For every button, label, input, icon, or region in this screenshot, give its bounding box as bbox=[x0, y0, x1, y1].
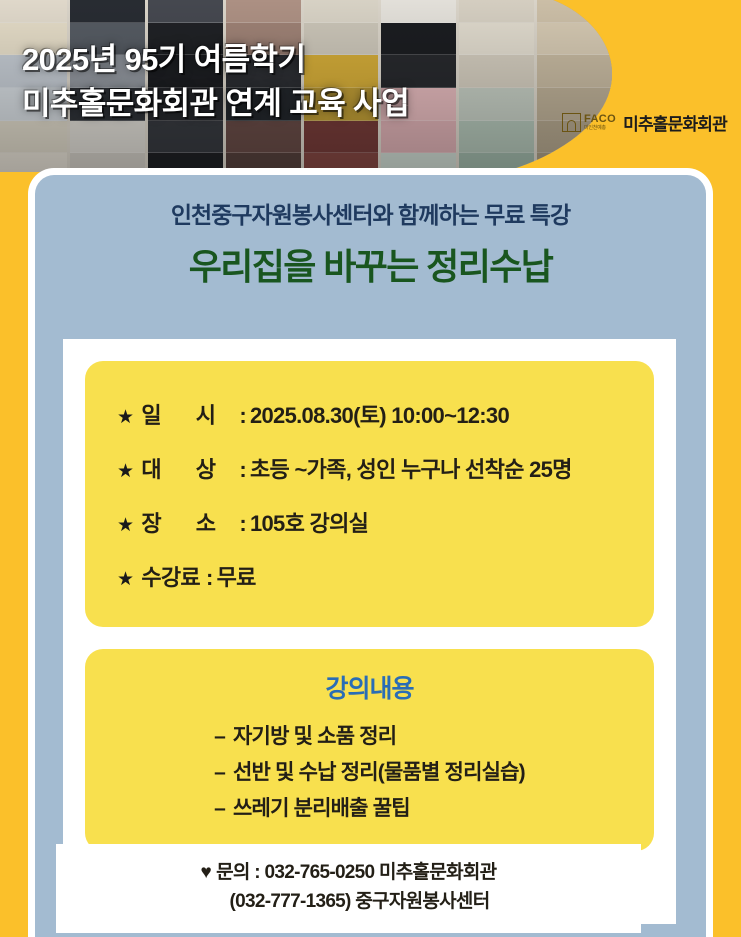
contact-text-primary: 문의 : 032-765-0250 미추홀문화회관 bbox=[216, 862, 496, 883]
detail-label: 장 소 bbox=[141, 506, 239, 538]
detail-row: ★ 대 상 : 초등 ~가족, 성인 누구나 선착순 25명 bbox=[85, 441, 654, 495]
faco-wordmark: FACO 미인천예총 bbox=[584, 114, 616, 131]
curriculum-heading: 강의내용 bbox=[85, 669, 654, 705]
detail-row: ★ 수강료 : 무료 bbox=[85, 549, 654, 603]
star-icon: ★ bbox=[117, 462, 133, 481]
detail-label: 일 시 bbox=[141, 398, 239, 430]
brand-logo: FACO 미인천예총 미추홀문화회관 bbox=[562, 110, 727, 135]
detail-value: 무료 bbox=[217, 560, 256, 592]
page-title: 2025년 95기 여름학기 미추홀문화회관 연계 교육 사업 bbox=[22, 38, 409, 126]
curriculum-list: –자기방 및 소품 정리 –선반 및 수납 정리(물품별 정리실습) –쓰레기 … bbox=[214, 719, 525, 827]
star-icon: ★ bbox=[117, 570, 133, 589]
detail-separator: : bbox=[206, 565, 213, 591]
program-title: 우리집을 바꾸는 정리수납 bbox=[35, 244, 706, 289]
panel-heading: 인천중구자원봉사센터와 함께하는 무료 특강 우리집을 바꾸는 정리수납 bbox=[35, 175, 706, 289]
hero-section: 2025년 95기 여름학기 미추홀문화회관 연계 교육 사업 bbox=[0, 0, 741, 172]
dash-bullet: – bbox=[214, 761, 225, 784]
heart-icon: ♥ bbox=[201, 862, 212, 883]
arch-icon bbox=[562, 113, 581, 132]
detail-separator: : bbox=[239, 511, 246, 537]
curriculum-item-text: 쓰레기 분리배출 꿀팁 bbox=[233, 797, 410, 820]
curriculum-item: –선반 및 수납 정리(물품별 정리실습) bbox=[214, 755, 525, 791]
poster-root: 2025년 95기 여름학기 미추홀문화회관 연계 교육 사업 FACO 미인천… bbox=[0, 0, 741, 937]
contact-line-primary: ♥문의 : 032-765-0250 미추홀문화회관 bbox=[56, 858, 641, 887]
brand-name-label: 미추홀문화회관 bbox=[623, 110, 727, 135]
star-icon: ★ bbox=[117, 516, 133, 535]
page-title-line2: 미추홀문화회관 연계 교육 사업 bbox=[22, 82, 409, 126]
detail-value: 초등 ~가족, 성인 누구나 선착순 25명 bbox=[250, 452, 572, 484]
detail-separator: : bbox=[239, 403, 246, 429]
curriculum-item: –쓰레기 분리배출 꿀팁 bbox=[214, 791, 525, 827]
detail-separator: : bbox=[239, 457, 246, 483]
page-title-line1: 2025년 95기 여름학기 bbox=[22, 38, 409, 82]
program-subtitle: 인천중구자원봉사센터와 함께하는 무료 특강 bbox=[35, 201, 706, 231]
main-panel: 인천중구자원봉사센터와 함께하는 무료 특강 우리집을 바꾸는 정리수납 ★ 일… bbox=[28, 168, 713, 937]
detail-row: ★ 장 소 : 105호 강의실 bbox=[85, 495, 654, 549]
detail-label: 대 상 bbox=[141, 452, 239, 484]
curriculum-item-text: 자기방 및 소품 정리 bbox=[233, 725, 396, 748]
detail-label: 수강료 bbox=[141, 560, 200, 592]
content-sheet: ★ 일 시 : 2025.08.30(토) 10:00~12:30 ★ 대 상 … bbox=[63, 339, 676, 924]
detail-value: 105호 강의실 bbox=[250, 506, 368, 538]
curriculum-item: –자기방 및 소품 정리 bbox=[214, 719, 525, 755]
curriculum-item-text: 선반 및 수납 정리(물품별 정리실습) bbox=[233, 761, 525, 784]
detail-row: ★ 일 시 : 2025.08.30(토) 10:00~12:30 bbox=[85, 387, 654, 441]
dash-bullet: – bbox=[214, 797, 225, 820]
contact-box: ♥문의 : 032-765-0250 미추홀문화회관 (032-777-1365… bbox=[56, 844, 641, 933]
curriculum-card: 강의내용 –자기방 및 소품 정리 –선반 및 수납 정리(물품별 정리실습) … bbox=[85, 649, 654, 851]
star-icon: ★ bbox=[117, 408, 133, 427]
contact-line-secondary: (032-777-1365) 중구자원봉사센터 bbox=[56, 887, 641, 916]
faco-abbr: FACO bbox=[584, 114, 616, 125]
program-details-card: ★ 일 시 : 2025.08.30(토) 10:00~12:30 ★ 대 상 … bbox=[85, 361, 654, 627]
dash-bullet: – bbox=[214, 725, 225, 748]
faco-subtext: 미인천예총 bbox=[584, 126, 616, 131]
detail-value: 2025.08.30(토) 10:00~12:30 bbox=[250, 398, 509, 430]
faco-logo-mark: FACO 미인천예총 bbox=[562, 113, 616, 132]
